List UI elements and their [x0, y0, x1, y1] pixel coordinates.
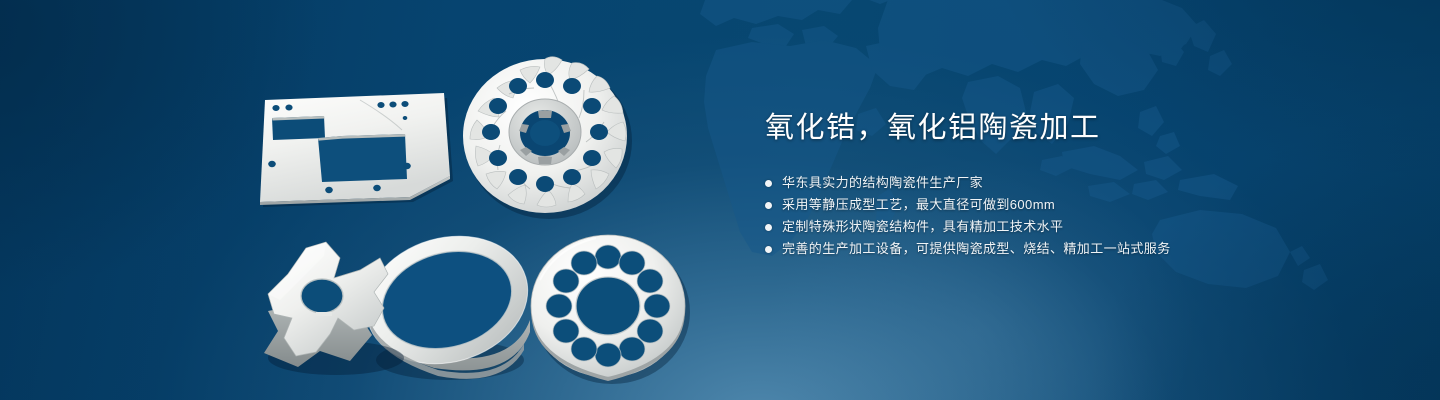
product-collage [0, 0, 760, 400]
feature-text: 采用等静压成型工艺，最大直径可做到600mm [782, 194, 1055, 216]
ceramic-impeller-disc [452, 46, 642, 226]
bullet-dot-icon [765, 224, 772, 231]
bullet-dot-icon [765, 246, 772, 253]
hero-banner: 氧化锆，氧化铝陶瓷加工 华东具实力的结构陶瓷件生产厂家 采用等静压成型工艺，最大… [0, 0, 1440, 400]
ceramic-perforated-disc [518, 228, 703, 388]
feature-text: 完善的生产加工设备，可提供陶瓷成型、烧结、精加工一站式服务 [782, 238, 1171, 260]
list-item: 完善的生产加工设备，可提供陶瓷成型、烧结、精加工一站式服务 [765, 238, 1405, 260]
bullet-dot-icon [765, 180, 772, 187]
feature-text: 华东具实力的结构陶瓷件生产厂家 [782, 172, 983, 194]
list-item: 采用等静压成型工艺，最大直径可做到600mm [765, 194, 1405, 216]
ceramic-plate-with-cutouts [252, 78, 452, 203]
ceramic-cross-shaped-part [254, 230, 434, 380]
bullet-dot-icon [765, 202, 772, 209]
list-item: 定制特殊形状陶瓷结构件，具有精加工技术水平 [765, 216, 1405, 238]
page-title: 氧化锆，氧化铝陶瓷加工 [765, 108, 1405, 148]
feature-text: 定制特殊形状陶瓷结构件，具有精加工技术水平 [782, 216, 1063, 238]
feature-list: 华东具实力的结构陶瓷件生产厂家 采用等静压成型工艺，最大直径可做到600mm 定… [765, 172, 1405, 260]
list-item: 华东具实力的结构陶瓷件生产厂家 [765, 172, 1405, 194]
banner-copy-block: 氧化锆，氧化铝陶瓷加工 华东具实力的结构陶瓷件生产厂家 采用等静压成型工艺，最大… [765, 108, 1405, 260]
